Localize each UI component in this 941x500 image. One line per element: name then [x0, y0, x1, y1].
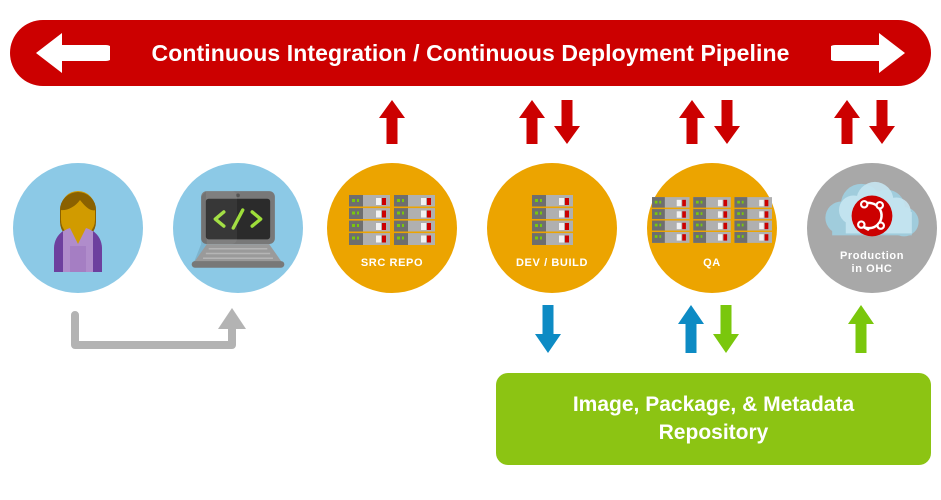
arrow-down-production-icon	[868, 100, 896, 144]
stage-label-production: Production in OHC	[840, 250, 904, 276]
stage-label-qa: QA	[703, 257, 721, 270]
page-title: Continuous Integration / Continuous Depl…	[152, 40, 790, 67]
arrow-down-dev-build-icon	[553, 100, 581, 144]
arrow-up-production-icon	[833, 100, 861, 144]
arrow-down-qa-icon	[713, 100, 741, 144]
stage-workstation[interactable]	[173, 163, 303, 293]
stage-dev-build[interactable]: DEV / BUILD	[487, 163, 617, 293]
server-rack-icon	[532, 187, 573, 253]
stage-src-repo[interactable]: SRC REPO	[327, 163, 457, 293]
stage-qa[interactable]: QA	[647, 163, 777, 293]
arrow-up-src-repo-icon	[378, 100, 406, 144]
arrow-down-dev-build-repo-icon	[534, 305, 562, 353]
stage-developer[interactable]	[13, 163, 143, 293]
cloud-openshift-icon	[818, 180, 926, 246]
stage-label-src-repo: SRC REPO	[361, 257, 423, 270]
arrow-up-qa-repo-icon	[677, 305, 705, 353]
pipeline-banner: Continuous Integration / Continuous Depl…	[10, 20, 931, 86]
repository-box[interactable]: Image, Package, & Metadata Repository	[496, 373, 931, 465]
arrow-up-production-repo-icon	[847, 305, 875, 353]
server-rack-icon	[652, 187, 772, 253]
server-rack-icon	[349, 187, 435, 253]
arrow-up-qa-icon	[678, 100, 706, 144]
arrow-up-dev-build-icon	[518, 100, 546, 144]
stage-production[interactable]: Production in OHC	[807, 163, 937, 293]
laptop-code-icon	[186, 187, 290, 269]
person-avatar-icon	[30, 180, 126, 276]
repository-label: Image, Package, & Metadata Repository	[573, 391, 854, 447]
arrow-left-icon	[32, 31, 110, 75]
arrow-right-icon	[831, 31, 909, 75]
arrow-down-qa-repo-icon	[712, 305, 740, 353]
feedback-loop-arrow-icon	[64, 303, 254, 355]
cicd-pipeline-diagram: Continuous Integration / Continuous Depl…	[0, 0, 941, 500]
stage-label-dev-build: DEV / BUILD	[516, 257, 588, 270]
